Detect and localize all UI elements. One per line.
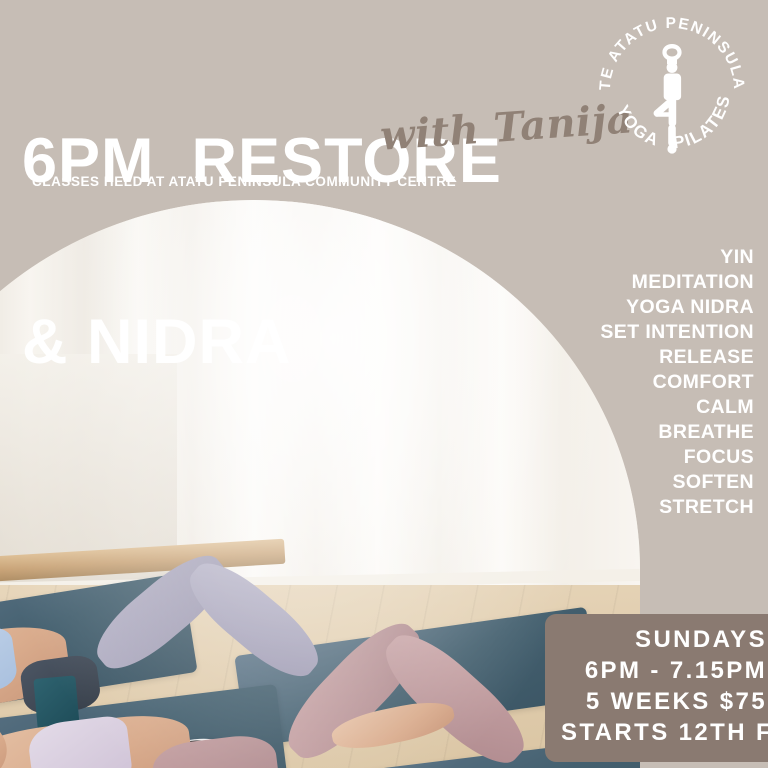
venue-text: CLASSES HELD AT ATATU PENINSULA COMMUNIT… — [32, 174, 456, 189]
keyword-item: YOGA NIDRA — [600, 295, 754, 320]
class-start-date: STARTS 12TH FEB — [561, 717, 767, 748]
keyword-item: BREATHE — [600, 420, 754, 445]
keyword-item: CALM — [600, 395, 754, 420]
keyword-item: COMFORT — [600, 370, 754, 395]
keyword-item: STRETCH — [600, 495, 754, 520]
title-line-2: & NIDRA — [22, 312, 502, 372]
keyword-item: MEDITATION — [600, 270, 754, 295]
class-time: 6PM - 7.15PM — [561, 655, 767, 686]
logo-bottom-right-text: PILATES — [672, 93, 734, 153]
logo-bottom-left-text: YOGA — [613, 102, 663, 150]
keyword-item: RELEASE — [600, 345, 754, 370]
keyword-item: SET INTENTION — [600, 320, 754, 345]
poster-title: 6PM RESTORE & NIDRA — [22, 10, 502, 494]
keyword-item: FOCUS — [600, 445, 754, 470]
class-day: SUNDAYS — [561, 624, 767, 655]
poster-canvas: 6PM RESTORE & NIDRA with Tanija CLASSES … — [0, 0, 768, 768]
studio-logo: TE ATATU PENINSULA YOGA PILATES — [588, 6, 756, 174]
keyword-item: SOFTEN — [600, 470, 754, 495]
class-price: 5 WEEKS $75 — [561, 686, 767, 717]
class-details-box: SUNDAYS 6PM - 7.15PM 5 WEEKS $75 STARTS … — [545, 614, 768, 762]
keyword-list: YIN MEDITATION YOGA NIDRA SET INTENTION … — [600, 245, 754, 520]
keyword-item: YIN — [600, 245, 754, 270]
